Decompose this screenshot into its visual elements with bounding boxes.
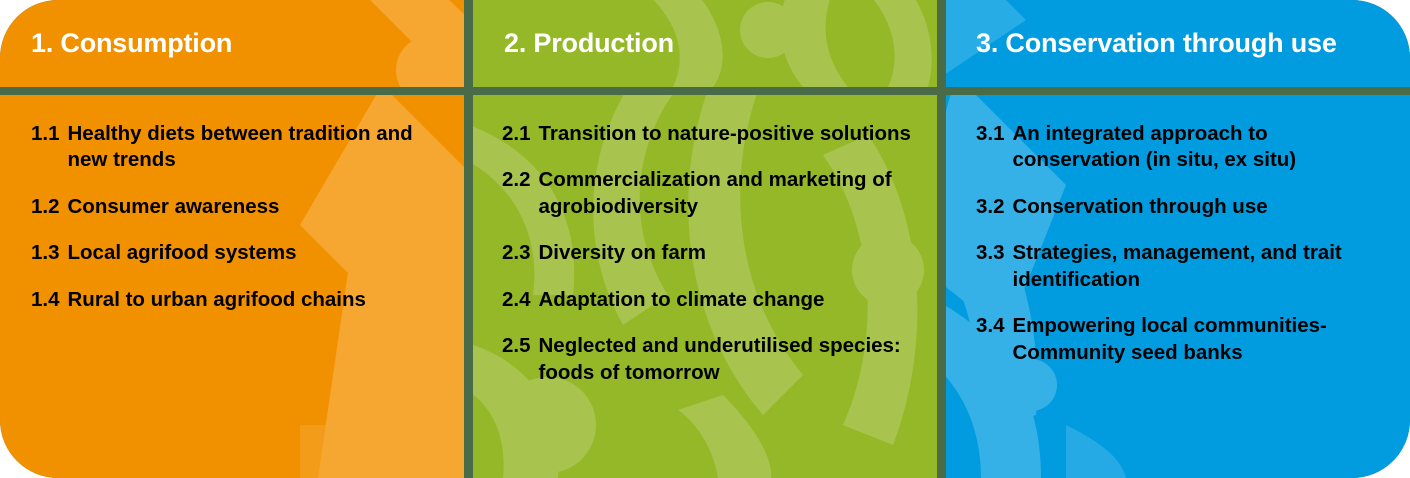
theme-item[interactable]: 3.3 Strategies, management, and trait id… — [976, 240, 1394, 293]
theme-item-number: 2.4 — [502, 287, 539, 313]
theme-header-panel-conservation[interactable]: 3. Conservation through use — [946, 0, 1410, 87]
theme-item-text: Commercialization and marketing of agrob… — [539, 167, 922, 220]
theme-item[interactable]: 2.4 Adaptation to climate change — [502, 287, 921, 313]
theme-column-consumption[interactable]: 1. Consumption 1.1 Healthy diets between… — [0, 0, 464, 478]
theme-item-number: 2.3 — [502, 240, 539, 266]
theme-body-panel-conservation[interactable]: 3.1 An integrated approach to conservati… — [946, 95, 1410, 478]
theme-item[interactable]: 1.3 Local agrifood systems — [31, 240, 450, 266]
theme-item-number: 3.2 — [976, 194, 1013, 220]
theme-columns: 1. Consumption 1.1 Healthy diets between… — [0, 0, 1410, 478]
theme-item[interactable]: 1.4 Rural to urban agrifood chains — [31, 287, 450, 313]
theme-header-title-conservation: 3. Conservation through use — [946, 29, 1337, 59]
theme-item-text: Rural to urban agrifood chains — [68, 287, 451, 313]
theme-item-list-production: 2.1 Transition to nature-positive soluti… — [473, 121, 937, 386]
theme-column-production[interactable]: 2. Production — [473, 0, 937, 478]
theme-item-number: 3.1 — [976, 121, 1013, 147]
theme-item-text: Local agrifood systems — [68, 240, 451, 266]
theme-item-text: Conservation through use — [1013, 194, 1395, 220]
theme-column-conservation[interactable]: 3. Conservation through use 3.1 — [946, 0, 1410, 478]
theme-item-text: Empowering local communities- Community … — [1013, 313, 1395, 366]
theme-item-text: Adaptation to climate change — [539, 287, 922, 313]
theme-item[interactable]: 3.2 Conservation through use — [976, 194, 1394, 220]
theme-item-number: 2.1 — [502, 121, 539, 147]
theme-item[interactable]: 3.4 Empowering local communities- Commun… — [976, 313, 1394, 366]
theme-item[interactable]: 2.2 Commercialization and marketing of a… — [502, 167, 921, 220]
theme-item-text: Strategies, management, and trait identi… — [1013, 240, 1395, 293]
theme-item-text: Neglected and underutilised species: foo… — [539, 333, 922, 386]
theme-item[interactable]: 2.3 Diversity on farm — [502, 240, 921, 266]
theme-item-number: 1.4 — [31, 287, 68, 313]
theme-header-panel-consumption[interactable]: 1. Consumption — [0, 0, 464, 87]
theme-item-list-conservation: 3.1 An integrated approach to conservati… — [946, 121, 1410, 366]
theme-header-panel-production[interactable]: 2. Production — [473, 0, 937, 87]
theme-item[interactable]: 1.2 Consumer awareness — [31, 194, 450, 220]
theme-item-text: Diversity on farm — [539, 240, 922, 266]
theme-item[interactable]: 3.1 An integrated approach to conservati… — [976, 121, 1394, 174]
theme-item[interactable]: 2.5 Neglected and underutilised species:… — [502, 333, 921, 386]
theme-item[interactable]: 1.1 Healthy diets between tradition and … — [31, 121, 450, 174]
three-theme-diagram: 1. Consumption 1.1 Healthy diets between… — [0, 0, 1410, 478]
theme-item-text: Transition to nature-positive solutions — [539, 121, 922, 147]
theme-item-text: Healthy diets between tradition and new … — [68, 121, 451, 174]
theme-header-title-consumption: 1. Consumption — [0, 29, 232, 59]
theme-item-text: An integrated approach to conservation (… — [1013, 121, 1395, 174]
theme-item-number: 2.2 — [502, 167, 539, 193]
theme-body-panel-consumption[interactable]: 1.1 Healthy diets between tradition and … — [0, 95, 464, 478]
theme-item-list-consumption: 1.1 Healthy diets between tradition and … — [0, 121, 464, 313]
theme-item-number: 3.3 — [976, 240, 1013, 266]
theme-item-text: Consumer awareness — [68, 194, 451, 220]
theme-item-number: 2.5 — [502, 333, 539, 359]
theme-item-number: 1.2 — [31, 194, 68, 220]
theme-header-title-production: 2. Production — [473, 29, 674, 59]
theme-item-number: 1.3 — [31, 240, 68, 266]
theme-item-number: 3.4 — [976, 313, 1013, 339]
theme-body-panel-production[interactable]: 2.1 Transition to nature-positive soluti… — [473, 95, 937, 478]
theme-item[interactable]: 2.1 Transition to nature-positive soluti… — [502, 121, 921, 147]
theme-item-number: 1.1 — [31, 121, 68, 147]
